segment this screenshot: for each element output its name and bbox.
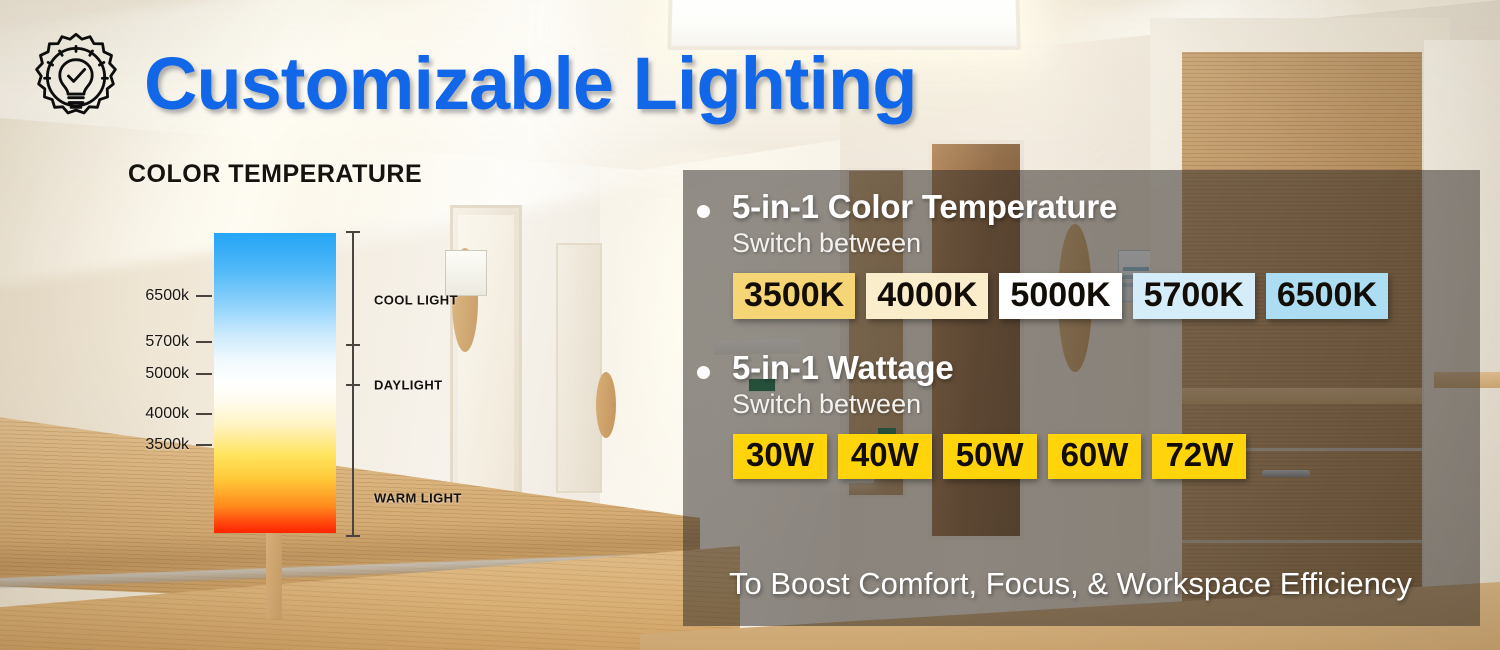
zone-label-cool-light: COOL LIGHT <box>374 292 458 307</box>
chip-50w[interactable]: 50W <box>943 434 1037 479</box>
feature-panel-inner: 5-in-1 Color Temperature Switch between … <box>683 170 1480 626</box>
axis-divider-cool-daylight <box>346 344 360 346</box>
tick-label: 5000k <box>145 365 189 383</box>
tick-dash-icon <box>196 413 212 415</box>
chart-body: 6500k 5700k 5000k 4000k 3500k <box>128 227 448 557</box>
feature-panel: 5-in-1 Color Temperature Switch between … <box>683 170 1480 626</box>
chip-72w[interactable]: 72W <box>1152 434 1246 479</box>
tick-5000k: 5000k <box>145 365 212 383</box>
chart-tick-group: 6500k 5700k 5000k 4000k 3500k <box>128 227 212 539</box>
chip-3500k[interactable]: 3500K <box>733 273 855 319</box>
feature-subtext: Switch between <box>732 389 954 420</box>
tick-label: 4000k <box>145 405 189 423</box>
tick-dash-icon <box>196 295 212 297</box>
chip-4000k[interactable]: 4000K <box>866 273 988 319</box>
zone-label-daylight: DAYLIGHT <box>374 378 442 393</box>
gear-lightbulb-check-icon <box>22 30 130 138</box>
feature-heading: 5-in-1 Wattage <box>732 349 954 387</box>
tick-4000k: 4000k <box>145 405 212 423</box>
chart-title: COLOR TEMPERATURE <box>128 160 448 189</box>
chart-stand-post <box>266 533 282 619</box>
feature-subtext: Switch between <box>732 228 1117 259</box>
bullet-dot-icon <box>697 366 710 379</box>
axis-divider-daylight-warm <box>346 384 360 386</box>
feature-text-block: 5-in-1 Color Temperature Switch between <box>732 188 1117 259</box>
tick-dash-icon <box>196 444 212 446</box>
infographic-stage: Customizable Lighting COLOR TEMPERATURE … <box>0 0 1500 650</box>
tick-5700k: 5700k <box>145 333 212 351</box>
tick-6500k: 6500k <box>145 287 212 305</box>
wattage-chip-row: 30W 40W 50W 60W 72W <box>683 434 1480 479</box>
axis-cap-bottom <box>346 535 360 537</box>
color-temperature-chart: COLOR TEMPERATURE 6500k 5700k 5000k 4000… <box>128 160 448 557</box>
chip-60w[interactable]: 60W <box>1048 434 1142 479</box>
feature-text-block: 5-in-1 Wattage Switch between <box>732 349 954 420</box>
tick-3500k: 3500k <box>145 436 212 454</box>
chip-5000k[interactable]: 5000K <box>999 273 1121 319</box>
tick-dash-icon <box>196 341 212 343</box>
color-temperature-chip-row: 3500K 4000K 5000K 5700K 6500K <box>683 273 1480 319</box>
tick-label: 3500k <box>145 436 189 454</box>
zone-label-warm-light: WARM LIGHT <box>374 490 462 505</box>
panel-tagline: To Boost Comfort, Focus, & Workspace Eff… <box>729 566 1412 602</box>
axis-cap-top <box>346 231 360 233</box>
tick-label: 6500k <box>145 287 189 305</box>
header: Customizable Lighting <box>22 30 916 138</box>
tick-dash-icon <box>196 373 212 375</box>
tick-label: 5700k <box>145 333 189 351</box>
feature-wattage: 5-in-1 Wattage Switch between <box>683 349 1480 420</box>
feature-color-temperature: 5-in-1 Color Temperature Switch between <box>683 188 1480 259</box>
temperature-gradient-bar <box>214 233 336 533</box>
chip-6500k[interactable]: 6500K <box>1266 273 1388 319</box>
chip-5700k[interactable]: 5700K <box>1133 273 1255 319</box>
chip-30w[interactable]: 30W <box>733 434 827 479</box>
page-title: Customizable Lighting <box>144 47 916 121</box>
chip-40w[interactable]: 40W <box>838 434 932 479</box>
feature-heading: 5-in-1 Color Temperature <box>732 188 1117 226</box>
bullet-dot-icon <box>697 205 710 218</box>
